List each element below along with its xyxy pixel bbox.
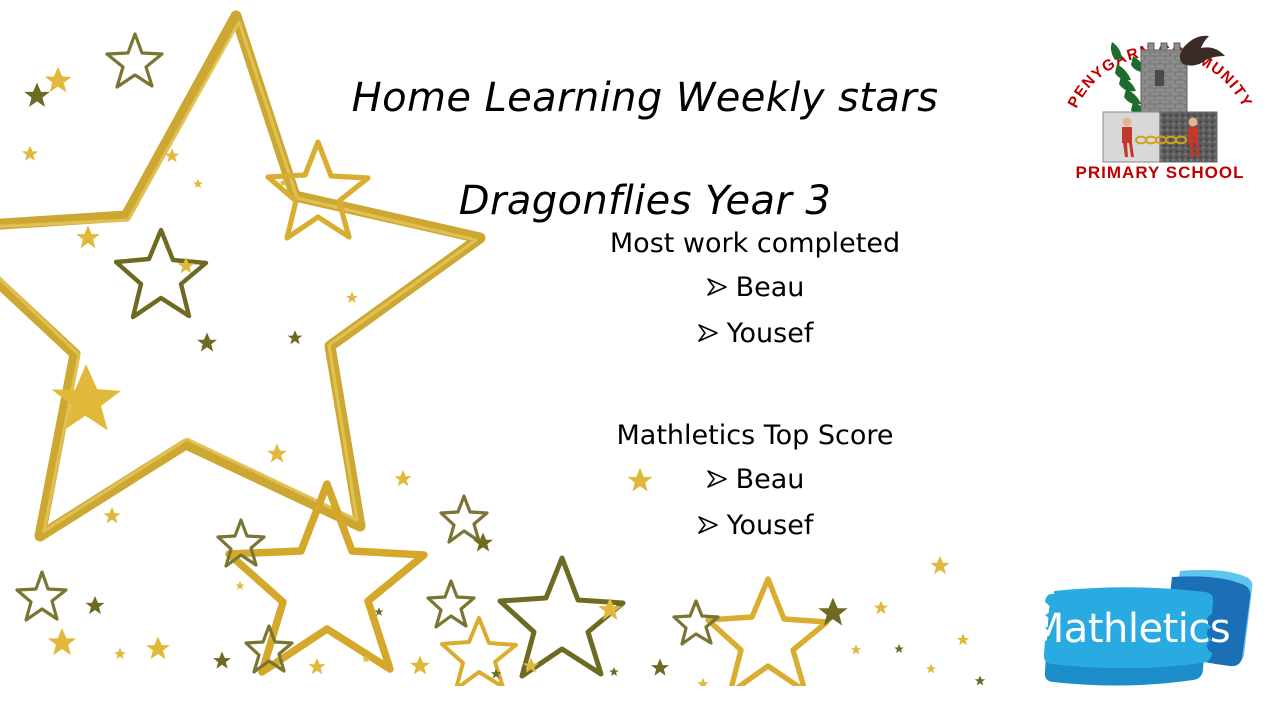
award-block-most-work-completed: Most work completed Beau Yousef bbox=[475, 228, 1035, 358]
award-heading: Mathletics Top Score bbox=[475, 420, 1035, 453]
list-item: Beau bbox=[475, 457, 1035, 503]
mathletics-logo: Mathletics bbox=[1030, 565, 1270, 690]
stone-tower bbox=[1141, 43, 1187, 112]
award-name-list: Beau Yousef bbox=[475, 265, 1035, 358]
arrow-bullet-icon bbox=[706, 277, 732, 297]
award-block-mathletics-top-score: Mathletics Top Score Beau Yousef bbox=[475, 420, 1035, 550]
big-gold-star-outline-bottom bbox=[229, 484, 424, 672]
award-heading: Most work completed bbox=[475, 228, 1035, 261]
award-name: Yousef bbox=[727, 503, 814, 549]
award-name-list: Beau Yousef bbox=[475, 457, 1035, 550]
title-line-2: Dragonflies Year 3 bbox=[250, 176, 1040, 227]
logo-bottom-text: PRIMARY SCHOOL bbox=[1076, 163, 1245, 182]
slide-canvas: Home Learning Weekly stars Dragonflies Y… bbox=[0, 0, 1280, 720]
list-item: Yousef bbox=[475, 311, 1035, 357]
list-item: Beau bbox=[475, 265, 1035, 311]
mathletics-wordmark: Mathletics bbox=[1030, 606, 1230, 652]
award-name: Yousef bbox=[727, 311, 814, 357]
arrow-bullet-icon bbox=[697, 515, 723, 535]
arrow-bullet-icon bbox=[706, 469, 732, 489]
small-gold-star-outline-far-right bbox=[442, 618, 516, 686]
award-name: Beau bbox=[736, 457, 805, 503]
arrow-bullet-icon bbox=[697, 323, 723, 343]
penygarn-community-primary-school-logo: PENYGARN COMMUNITY bbox=[1055, 12, 1265, 182]
list-item: Yousef bbox=[475, 503, 1035, 549]
medium-dark-star-outline bbox=[116, 230, 206, 317]
award-name: Beau bbox=[736, 265, 805, 311]
medium-gold-star-outline-bottom-right bbox=[708, 579, 827, 686]
title-line-1: Home Learning Weekly stars bbox=[250, 73, 1040, 124]
medium-dark-star-outline-bottom bbox=[500, 558, 623, 676]
